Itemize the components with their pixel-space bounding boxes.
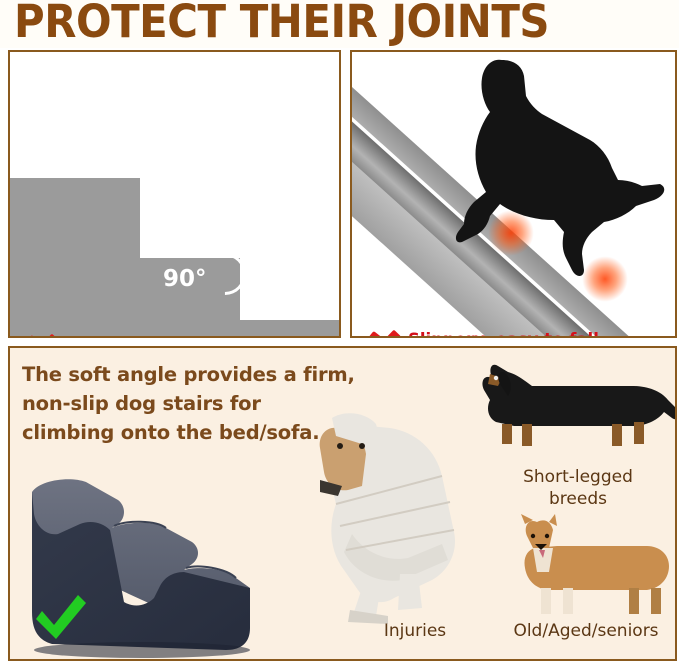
page-title: PROTECT THEIR JOINTS [14, 0, 549, 46]
angle-label: 90° [163, 266, 207, 292]
label-injuries: Injuries [350, 620, 480, 642]
label-old-aged-seniors: Old/Aged/seniors [480, 620, 677, 642]
dog-photo-corgi [497, 514, 677, 624]
dog-silhouette-icon [444, 52, 674, 282]
dog-photo-dachshund [462, 356, 677, 464]
panel-steep-stairs: 90° Difficulty of climbing [8, 50, 341, 338]
red-x-icon [22, 328, 62, 338]
caption-slippery-easy-to-fall: Slippery, easy to fall [408, 330, 599, 338]
stair-step-upper [8, 178, 140, 338]
caption-difficulty-of-climbing: Difficulty of climbing [66, 334, 259, 338]
header-banner: PROTECT THEIR JOINTS [0, 0, 679, 48]
green-check-icon [32, 593, 88, 643]
red-x-icon [364, 324, 404, 338]
label-short-legged-breeds: Short-legged breeds [504, 466, 652, 510]
panel-solution: The soft angle provides a firm, non-slip… [8, 346, 677, 661]
dog-photo-bandaged [292, 384, 484, 632]
panel-slippery-ramp: Slippery, easy to fall [350, 50, 677, 338]
